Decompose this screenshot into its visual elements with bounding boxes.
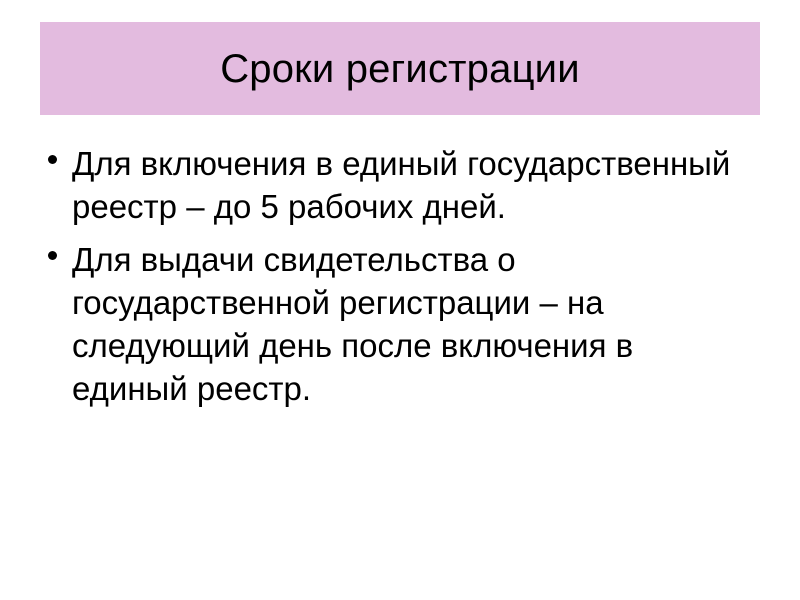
slide-title-banner: Сроки регистрации [40,22,760,115]
slide-title: Сроки регистрации [220,47,580,91]
bullet-list-item: Для выдачи свидетельства о государственн… [40,238,756,410]
bullet-list-item: Для включения в единый государственный р… [40,142,756,228]
slide-body: Для включения в единый государственный р… [40,142,756,410]
bullet-dot-icon [48,251,57,260]
presentation-slide: Сроки регистрации Для включения в единый… [0,0,800,600]
bullet-item-text: Для включения в единый государственный р… [72,142,756,228]
bullet-item-text: Для выдачи свидетельства о государственн… [72,238,756,410]
bullet-dot-icon [48,155,57,164]
